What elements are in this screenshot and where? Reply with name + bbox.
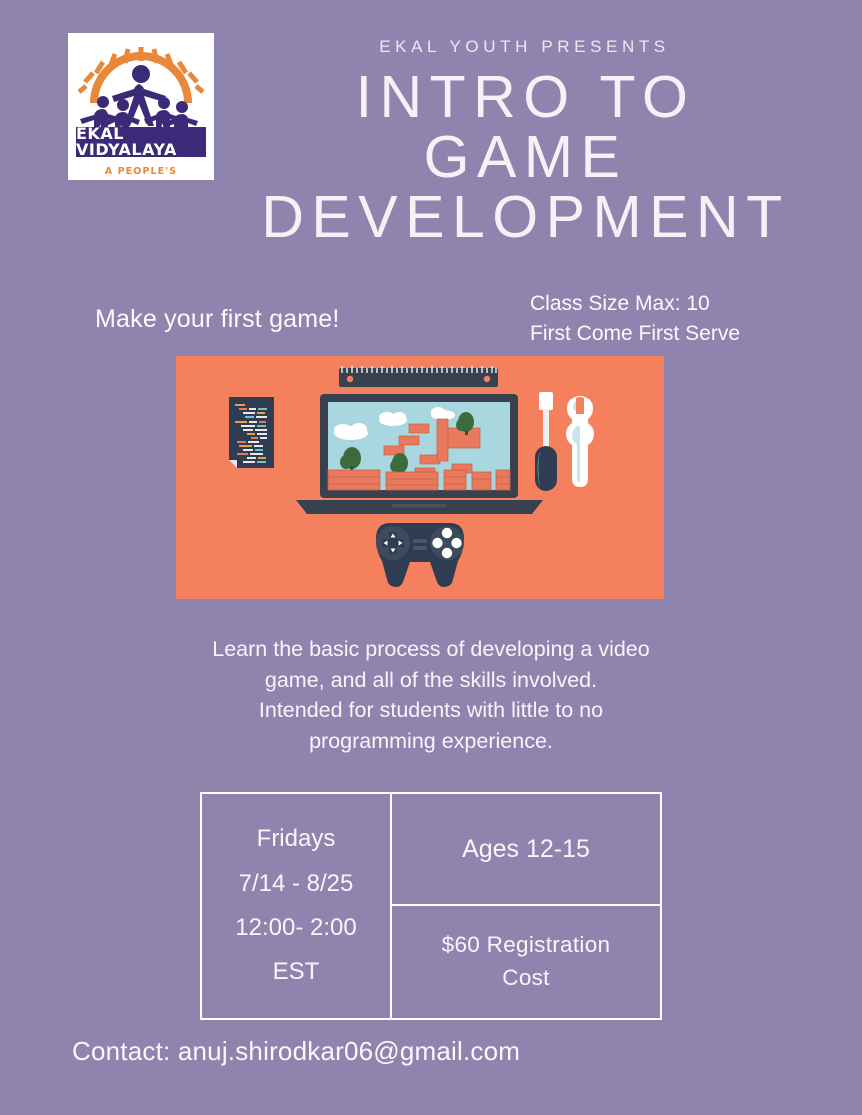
- title-line-2: GAME: [229, 127, 822, 187]
- logo-tagline: A PEOPLE'S MOVEMENT: [68, 161, 214, 180]
- first-come-line: First Come First Serve: [530, 319, 740, 349]
- schedule-day: Fridays: [257, 817, 336, 861]
- description-line-3: Intended for students with little to no: [131, 695, 731, 726]
- description-line-4: programming experience.: [131, 726, 731, 757]
- code-sheet-icon: [229, 397, 274, 468]
- ages-cell: Ages 12-15: [392, 794, 660, 906]
- title-line-3: DEVELOPMENT: [229, 187, 822, 247]
- cost-line-1: $60 Registration: [442, 929, 611, 962]
- logo-banner-text: EKAL VIDYALAYA: [76, 126, 206, 158]
- schedule-time: 12:00- 2:00: [235, 906, 356, 950]
- page-title: INTRO TO GAME DEVELOPMENT: [222, 67, 822, 248]
- wrench-icon: [566, 396, 594, 487]
- schedule-timezone: EST: [273, 950, 320, 994]
- logo-tagline-text: A PEOPLE'S MOVEMENT: [105, 166, 177, 180]
- ekal-vidyalaya-logo: EKAL VIDYALAYA A PEOPLE'S MOVEMENT: [68, 33, 214, 180]
- tools-icon: [530, 392, 595, 497]
- class-size-line: Class Size Max: 10: [530, 289, 740, 319]
- details-right-column: Ages 12-15 $60 Registration Cost: [392, 794, 660, 1018]
- people-figures-icon: [76, 63, 206, 133]
- presents-label: EKAL YOUTH PRESENTS: [222, 38, 822, 57]
- poster-header: EKAL VIDYALAYA A PEOPLE'S MOVEMENT EKAL …: [0, 0, 862, 270]
- course-description: Learn the basic process of developing a …: [131, 634, 731, 756]
- ruler-icon: [339, 365, 498, 387]
- cost-cell: $60 Registration Cost: [392, 906, 660, 1018]
- logo-banner: EKAL VIDYALAYA: [76, 127, 206, 157]
- laptop-with-game-icon: [296, 394, 543, 518]
- gamepad-icon: [360, 519, 480, 587]
- screwdriver-icon: [535, 392, 557, 491]
- tagline: Make your first game!: [95, 305, 340, 334]
- title-line-1: INTRO TO: [229, 67, 822, 127]
- cost-line-2: Cost: [502, 962, 549, 995]
- schedule-dates: 7/14 - 8/25: [239, 862, 354, 906]
- class-info: Class Size Max: 10 First Come First Serv…: [530, 289, 740, 350]
- schedule-cell: Fridays 7/14 - 8/25 12:00- 2:00 EST: [202, 794, 392, 1018]
- course-details-table: Fridays 7/14 - 8/25 12:00- 2:00 EST Ages…: [200, 792, 662, 1020]
- contact-info: Contact: anuj.shirodkar06@gmail.com: [72, 1036, 520, 1067]
- description-line-2: game, and all of the skills involved.: [131, 665, 731, 696]
- game-development-illustration: [176, 356, 664, 599]
- description-line-1: Learn the basic process of developing a …: [131, 634, 731, 665]
- title-block: EKAL YOUTH PRESENTS INTRO TO GAME DEVELO…: [222, 38, 822, 247]
